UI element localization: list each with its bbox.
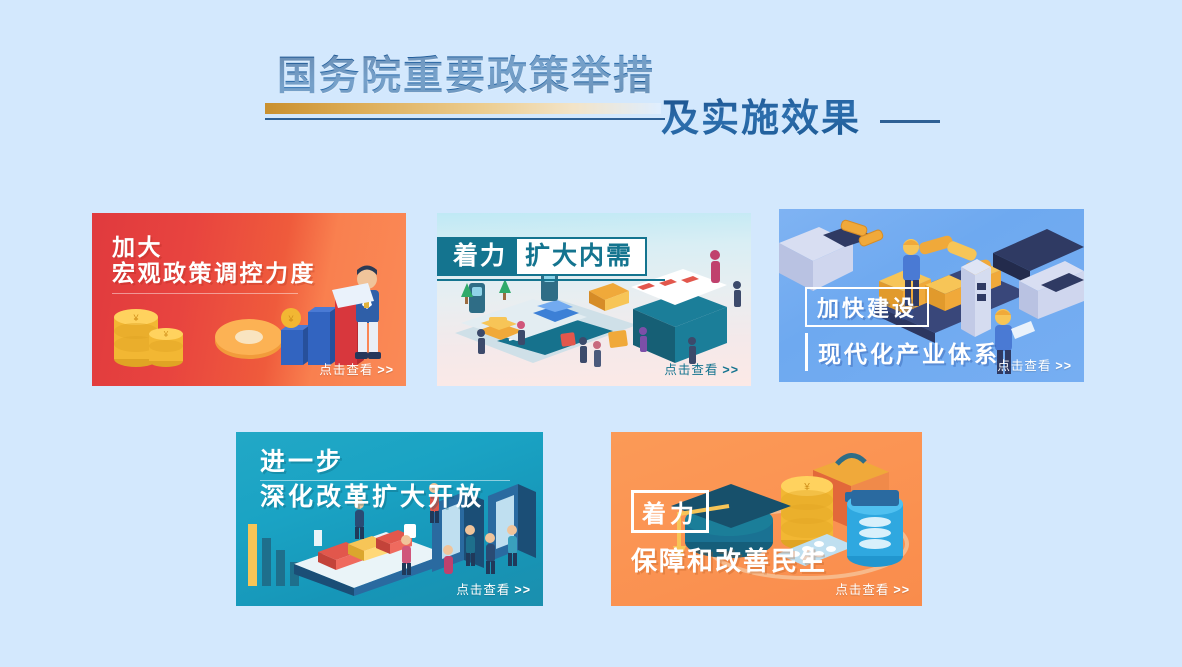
page-title-block: 国务院重要政策举措 及实施效果 [265,52,945,152]
page-title-line-1: 国务院重要政策举措 [277,52,655,100]
card-1-line-1: 加大 [112,235,316,261]
card-2-line-2: 扩大内需 [517,237,647,276]
policy-card-expand-demand[interactable]: 着力 扩大内需 点击查看>> [437,213,751,386]
card-5-cta[interactable]: 点击查看>> [835,579,910,598]
title-trailing-dash [880,120,940,123]
policy-card-livelihood[interactable]: ¥ [611,432,922,606]
card-1-cta[interactable]: 点击查看>> [319,359,394,378]
card-1-line-2: 宏观政策调控力度 [112,261,316,287]
card-5-heading: 着力 保障和改善民生 [631,490,827,578]
policy-card-modern-industry[interactable]: 加快建设 现代化产业体系 点击查看>> [779,209,1084,382]
card-4-heading-rule [260,480,510,481]
card-2-cta-label: 点击查看 [664,363,718,377]
title-blue-rule [265,118,665,120]
card-2-heading: 着力 扩大内需 [437,237,647,276]
card-4-heading: 进一步 深化改革扩大开放 [260,448,510,511]
svg-text:¥: ¥ [132,313,139,323]
policy-card-reform-opening[interactable]: 进一步 深化改革扩大开放 点击查看>> [236,432,543,606]
card-1-heading: 加大 宏观政策调控力度 [112,235,316,294]
card-1-cta-arrows-icon: >> [377,363,394,377]
card-4-cta-arrows-icon: >> [514,583,531,597]
card-5-cta-label: 点击查看 [835,583,889,597]
card-3-line-1: 加快建设 [805,287,929,327]
card-3-cta-label: 点击查看 [997,359,1051,373]
title-gold-underline [265,103,661,114]
card-5-line-2: 保障和改善民生 [631,541,827,578]
card-4-cta-label: 点击查看 [456,583,510,597]
card-2-cta-arrows-icon: >> [722,363,739,377]
card-2-heading-rule [437,279,665,281]
svg-text:¥: ¥ [287,314,294,324]
card-3-line-2: 现代化产业体系 [805,333,1008,371]
card-4-cta[interactable]: 点击查看>> [456,579,531,598]
card-1-heading-rule [112,293,298,294]
card-4-line-2: 深化改革扩大开放 [260,483,510,511]
card-1-cta-label: 点击查看 [319,363,373,377]
card-3-cta[interactable]: 点击查看>> [997,355,1072,374]
card-3-cta-arrows-icon: >> [1055,359,1072,373]
card-2-cta[interactable]: 点击查看>> [664,359,739,378]
card-2-line-1: 着力 [437,237,517,276]
policy-card-macro-control[interactable]: ¥ ¥ ¥ [92,213,406,386]
card-5-cta-arrows-icon: >> [893,583,910,597]
card-5-line-1: 着力 [631,490,709,533]
page-title-line-2: 及实施效果 [661,96,861,142]
card-4-line-1: 进一步 [260,448,510,476]
svg-text:¥: ¥ [163,330,169,339]
